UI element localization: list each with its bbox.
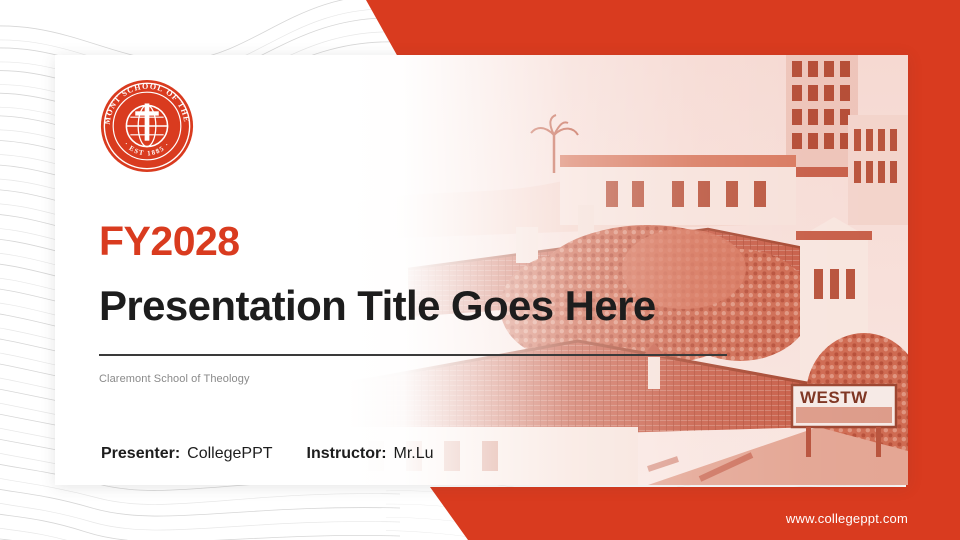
footer-website-url[interactable]: www.collegeppt.com bbox=[786, 511, 908, 526]
presenter-meta-row: Presenter: CollegePPT Instructor: Mr.Lu bbox=[101, 445, 434, 463]
instructor-label: Instructor: bbox=[307, 445, 387, 463]
presentation-slide: WESTW bbox=[0, 0, 960, 540]
presenter-field: Presenter: CollegePPT bbox=[101, 445, 273, 463]
content-card: WESTW bbox=[55, 55, 908, 485]
fiscal-year-label: FY2028 bbox=[99, 221, 240, 262]
subtitle-organization: Claremont School of Theology bbox=[99, 373, 250, 385]
instructor-value: Mr.Lu bbox=[394, 445, 434, 463]
presenter-label: Presenter: bbox=[101, 445, 180, 463]
page-title: Presentation Title Goes Here bbox=[99, 283, 656, 329]
instructor-field: Instructor: Mr.Lu bbox=[307, 445, 434, 463]
presenter-value: CollegePPT bbox=[187, 445, 272, 463]
claremont-seal-logo: CLAREMONT SCHOOL OF THEOLOGY · EST 1885 … bbox=[98, 77, 196, 175]
title-divider bbox=[99, 354, 727, 356]
